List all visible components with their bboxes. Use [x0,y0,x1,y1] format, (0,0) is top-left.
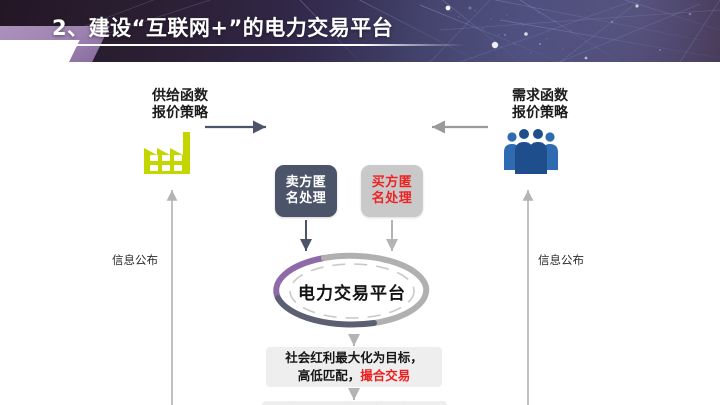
result-clearing-box: 市场出清，给出每个合约 对的成交价格 [262,401,447,405]
slide-header: 2、建设“互联网+”的电力交易平台 [0,0,720,62]
result1-seg2: 高低匹配， [298,368,361,383]
slide-root: 2、建设“互联网+”的电力交易平台 [0,0,720,405]
result-objective-box: 社会红利最大化为目标， 高低匹配，撮合交易 [266,347,442,387]
result1-seg3: 撮合交易 [360,368,410,383]
page-title: 2、建设“互联网+”的电力交易平台 [52,12,393,42]
feedback-right-label: 信息公布 [538,252,584,268]
buyer-anonymizer-box[interactable]: 买方匿 名处理 [361,165,423,217]
feedback-loop-left [172,190,262,405]
platform-label: 电力交易平台 [262,250,442,332]
people-group-icon-glyph [503,128,559,176]
demand-label-line2: 报价策略 [498,105,582,122]
feedback-loop-right [447,190,528,405]
factory-icon-glyph [140,128,202,176]
feedback-left-label: 信息公布 [112,252,158,268]
title-underline [44,44,464,46]
seller-box-line2: 名处理 [286,191,327,207]
buyer-box-line1: 买方匿 [372,175,413,191]
people-group-icon [503,128,559,176]
demand-label-line1: 需求函数 [498,88,582,105]
supply-label-line2: 报价策略 [138,105,222,122]
result1-seg1: 社会红利最大化为目标， [285,350,423,365]
supply-label: 供给函数 报价策略 [138,88,222,121]
supply-label-line1: 供给函数 [138,88,222,105]
demand-label: 需求函数 报价策略 [498,88,582,121]
seller-box-line1: 卖方匿 [286,175,327,191]
seller-anonymizer-box[interactable]: 卖方匿 名处理 [275,165,337,217]
factory-icon [140,128,202,176]
buyer-box-line2: 名处理 [372,191,413,207]
slide-body: 供给函数 报价策略 需求函数 报价策略 [0,62,720,405]
